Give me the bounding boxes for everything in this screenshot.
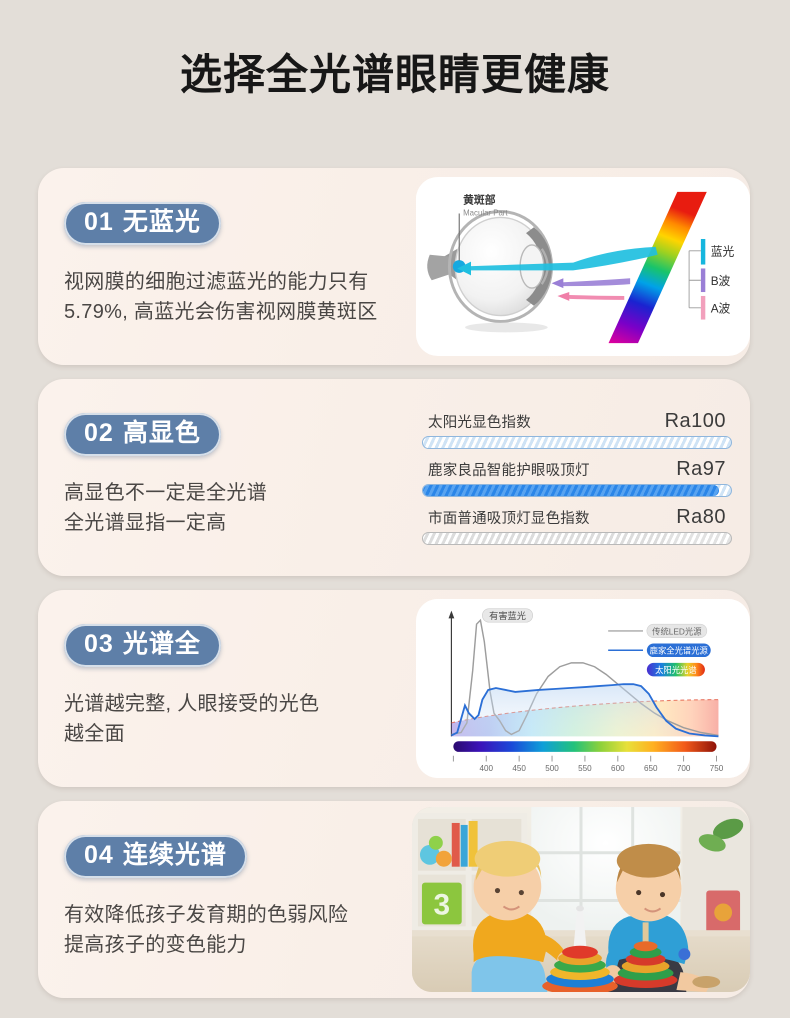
cri-value: Ra97 (676, 458, 726, 481)
legend-label-led: 传统LED光源 (652, 626, 702, 636)
card-text-column: 03光谱全 光谱越完整, 人眼接受的光色 越全面 (38, 590, 410, 787)
cri-track (422, 484, 732, 497)
svg-text:750: 750 (710, 764, 724, 773)
card-media-column: 有害蓝光 传统LED光源 鹿家全光谱光源 太阳光光谱 (410, 590, 750, 787)
card-badge-02: 02高显色 (64, 413, 221, 456)
spectrum-chart-svg: 有害蓝光 传统LED光源 鹿家全光谱光源 太阳光光谱 (416, 599, 750, 778)
card-number: 02 (84, 419, 114, 447)
ray-label-blue: 蓝光 (711, 245, 735, 259)
card-number: 03 (84, 630, 114, 658)
card-text-column: 01无蓝光 视网膜的细胞过滤蓝光的能力只有 5.79%, 高蓝光会伤害视网膜黄斑… (38, 168, 410, 365)
spectrum-chart: 有害蓝光 传统LED光源 鹿家全光谱光源 太阳光光谱 (416, 599, 750, 778)
cri-row-header: 市面普通吸顶灯显色指数 Ra80 (422, 506, 732, 532)
card-title: 高显色 (123, 419, 201, 447)
macula-label-en: Macular Part (463, 208, 508, 217)
card-media-column: 黄斑部 Macular Part (410, 168, 750, 365)
ray-label-a: A波 (711, 303, 731, 316)
eye-diagram: 黄斑部 Macular Part (416, 177, 750, 356)
svg-text:3: 3 (434, 888, 451, 921)
cri-fill (423, 485, 719, 496)
card-title: 连续光谱 (123, 841, 227, 869)
svg-text:有害蓝光: 有害蓝光 (489, 610, 526, 621)
card-description: 高显色不一定是全光谱 全光谱显指一定高 (64, 478, 410, 538)
children-playing-photo-svg: 3 (412, 807, 750, 992)
card-title: 无蓝光 (123, 208, 201, 236)
legend-label-lujia: 鹿家全光谱光源 (650, 646, 709, 656)
card-media-column: 太阳光显色指数 Ra100 鹿家良品智能护眼吸顶灯 Ra97 (410, 379, 750, 576)
card-text-column: 04连续光谱 有效降低孩子发育期的色弱风险 提高孩子的变色能力 (38, 801, 410, 998)
svg-text:400: 400 (479, 764, 493, 773)
svg-text:650: 650 (644, 764, 658, 773)
feature-card-03: 03光谱全 光谱越完整, 人眼接受的光色 越全面 (38, 590, 750, 787)
card-description: 有效降低孩子发育期的色弱风险 提高孩子的变色能力 (64, 900, 410, 960)
card-badge-03: 03光谱全 (64, 624, 221, 667)
legend-label-sun: 太阳光光谱 (655, 665, 697, 675)
svg-text:700: 700 (677, 764, 691, 773)
cri-value: Ra80 (676, 506, 726, 529)
card-badge-04: 04连续光谱 (64, 835, 247, 878)
cri-row-header: 太阳光显色指数 Ra100 (422, 410, 732, 436)
card-badge-01: 01无蓝光 (64, 202, 221, 245)
card-number: 01 (84, 208, 114, 236)
cri-label: 市面普通吸顶灯显色指数 (428, 507, 590, 528)
ray-label-b: B波 (711, 275, 731, 288)
cri-track (422, 436, 732, 449)
feature-card-list: 01无蓝光 视网膜的细胞过滤蓝光的能力只有 5.79%, 高蓝光会伤害视网膜黄斑… (38, 168, 750, 1012)
svg-text:550: 550 (578, 764, 592, 773)
cri-row: 太阳光显色指数 Ra100 (422, 410, 732, 449)
card-description: 光谱越完整, 人眼接受的光色 越全面 (64, 689, 410, 749)
card-description: 视网膜的细胞过滤蓝光的能力只有 5.79%, 高蓝光会伤害视网膜黄斑区 (64, 267, 410, 327)
feature-card-02: 02高显色 高显色不一定是全光谱 全光谱显指一定高 太阳光显色指数 Ra100 (38, 379, 750, 576)
card-text-column: 02高显色 高显色不一定是全光谱 全光谱显指一定高 (38, 379, 410, 576)
cri-label: 太阳光显色指数 (428, 411, 531, 432)
svg-text:450: 450 (512, 764, 526, 773)
card-media-column: 3 (410, 801, 750, 998)
svg-text:500: 500 (545, 764, 559, 773)
cri-row-header: 鹿家良品智能护眼吸顶灯 Ra97 (422, 458, 732, 484)
macula-label-cn: 黄斑部 (463, 193, 496, 207)
cri-comparison-panel: 太阳光显色指数 Ra100 鹿家良品智能护眼吸顶灯 Ra97 (414, 391, 742, 564)
eye-diagram-svg: 黄斑部 Macular Part (416, 177, 750, 356)
svg-text:600: 600 (611, 764, 625, 773)
cri-label: 鹿家良品智能护眼吸顶灯 (428, 459, 590, 480)
cri-value: Ra100 (665, 410, 726, 433)
children-playing-photo: 3 (412, 807, 750, 992)
cri-fill (423, 533, 669, 544)
feature-card-01: 01无蓝光 视网膜的细胞过滤蓝光的能力只有 5.79%, 高蓝光会伤害视网膜黄斑… (38, 168, 750, 365)
page-title: 选择全光谱眼睛更健康 (0, 0, 790, 98)
cri-fill (423, 437, 731, 448)
feature-card-04: 04连续光谱 有效降低孩子发育期的色弱风险 提高孩子的变色能力 (38, 801, 750, 998)
card-title: 光谱全 (123, 630, 201, 658)
harmful-blue-light-annotation: 有害蓝光 (482, 609, 532, 623)
cri-row: 鹿家良品智能护眼吸顶灯 Ra97 (422, 458, 732, 497)
cri-track (422, 532, 732, 545)
cri-row: 市面普通吸顶灯显色指数 Ra80 (422, 506, 732, 545)
card-number: 04 (84, 841, 114, 869)
